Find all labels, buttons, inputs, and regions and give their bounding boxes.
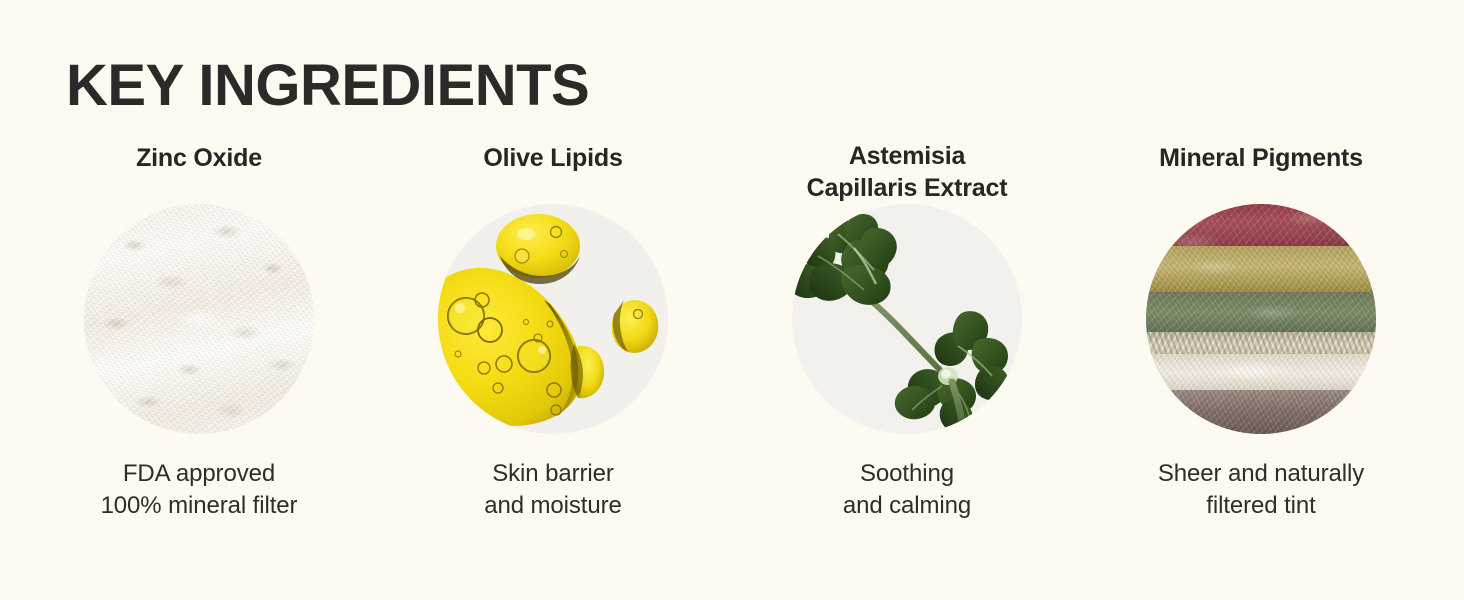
ingredient-description: FDA approved 100% mineral filter <box>101 458 298 521</box>
ingredient-columns: Zinc Oxide FDA approved 100% mineral fil… <box>0 140 1464 560</box>
pigment-band-mauve <box>1146 390 1376 434</box>
mineral-pigment-layers-image <box>1146 204 1376 434</box>
page-title: KEY INGREDIENTS <box>66 56 589 117</box>
ingredient-card-olive-lipids: Olive Lipids <box>390 140 716 521</box>
artemisia-sprig-image <box>792 204 1022 434</box>
ingredient-description: Soothing and calming <box>843 458 971 521</box>
ingredient-card-astemisia-capillaris-extract: Astemisia Capillaris Extract <box>744 140 1070 521</box>
ingredient-description: Skin barrier and moisture <box>484 458 622 521</box>
oil-droplets-graphic <box>438 204 668 434</box>
olive-oil-droplets-image <box>438 204 668 434</box>
ingredient-card-mineral-pigments: Mineral Pigments Sheer and naturally fil… <box>1098 140 1424 521</box>
key-ingredients-banner: KEY INGREDIENTS Zinc Oxide FDA approved … <box>0 0 1464 600</box>
pigment-band-olive <box>1146 246 1376 298</box>
ingredient-name: Astemisia Capillaris Extract <box>807 140 1008 212</box>
zinc-oxide-powder-image <box>84 204 314 434</box>
ingredient-description: Sheer and naturally filtered tint <box>1158 458 1364 521</box>
ingredient-card-zinc-oxide: Zinc Oxide FDA approved 100% mineral fil… <box>36 140 362 521</box>
ingredient-name: Olive Lipids <box>483 140 622 212</box>
pigment-band-red <box>1146 204 1376 252</box>
ingredient-name: Mineral Pigments <box>1159 140 1363 212</box>
herb-sprig-graphic <box>792 204 1022 434</box>
ingredient-name: Zinc Oxide <box>136 140 262 212</box>
